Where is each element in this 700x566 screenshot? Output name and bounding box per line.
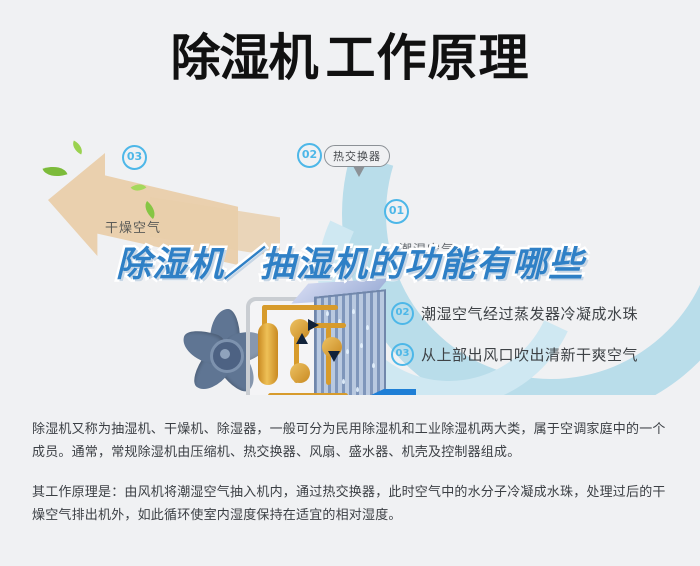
legend-text: 潮湿空气经过蒸发器冷凝成水珠 [421, 303, 638, 324]
diagram-marker-03: 03 [122, 145, 147, 170]
legend-item-02: 02 潮湿空气经过蒸发器冷凝成水珠 [391, 302, 638, 325]
flow-arrow-down-icon [328, 351, 340, 362]
legend-number: 02 [391, 302, 414, 325]
machine-assembly: 压缩机 水箱 [238, 275, 438, 395]
legend-number: 03 [391, 343, 414, 366]
page-title-part-2: 工作原理 [326, 29, 530, 87]
page-title-part-1: 除湿机 [171, 29, 318, 87]
page-title: 除湿机工作原理 [0, 28, 700, 88]
dry-air-label: 干燥空气 [105, 217, 161, 236]
leaf-icon [43, 162, 68, 181]
page-root: 除湿机工作原理 干燥空气 潮湿空气 [0, 0, 700, 566]
valve-icon [290, 363, 310, 383]
article-body: 除湿机又称为抽湿机、干燥机、除湿器，一般可分为民用除湿机和工业除湿机两大类，属于… [32, 418, 670, 527]
legend-item-03: 03 从上部出风口吹出清新干爽空气 [391, 343, 638, 366]
heat-exchanger-callout: 热交换器 [324, 145, 390, 167]
leaf-icon [70, 140, 86, 154]
overlay-headline: 除湿机／抽湿机的功能有哪些 [60, 245, 640, 286]
receiver-cylinder [258, 323, 278, 385]
article-paragraph-2: 其工作原理是：由风机将潮湿空气抽入机内，通过热交换器，此时空气中的水分子冷凝成水… [32, 481, 670, 527]
flow-arrow-right-icon [308, 319, 319, 331]
refrigerant-pipe [268, 393, 348, 395]
flow-arrow-up-icon [296, 333, 308, 344]
legend-text: 从上部出风口吹出清新干爽空气 [421, 344, 638, 365]
refrigerant-pipe [262, 305, 338, 310]
diagram-marker-02: 02 [297, 143, 322, 168]
article-paragraph-1: 除湿机又称为抽湿机、干燥机、除湿器，一般可分为民用除湿机和工业除湿机两大类，属于… [32, 418, 670, 464]
diagram-marker-01: 01 [384, 199, 409, 224]
